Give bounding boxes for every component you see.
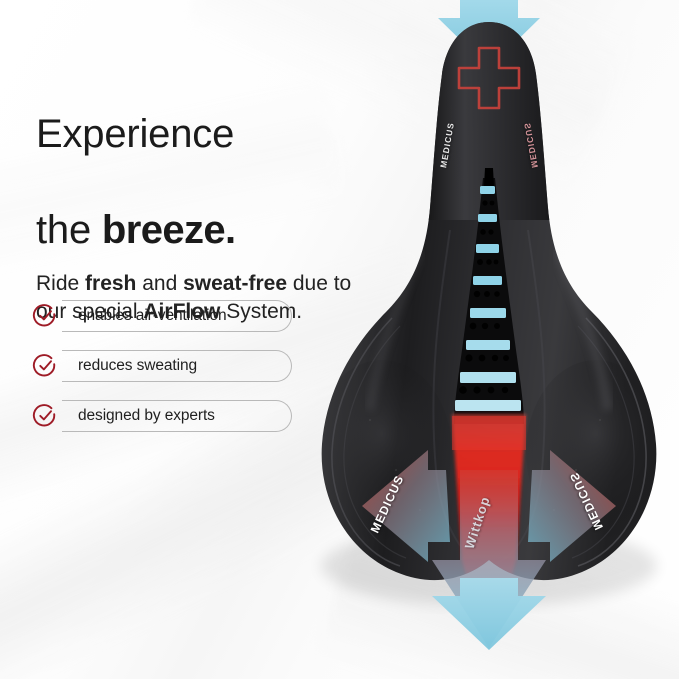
feature-item-reduces-sweating: reduces sweating <box>32 350 292 382</box>
feature-label: designed by experts <box>78 407 215 425</box>
headline-line-2-light: the <box>36 208 102 252</box>
feature-list: enables air-ventilation reduces sweating… <box>32 300 292 450</box>
feature-item-air-ventilation: enables air-ventilation <box>32 300 292 332</box>
subhead-part-2: and <box>136 272 183 295</box>
subhead-bold-sweat-free: sweat-free <box>183 272 287 295</box>
feature-item-designed-by-experts: designed by experts <box>32 400 292 432</box>
check-circle-icon <box>32 303 58 329</box>
feature-pill: enables air-ventilation <box>68 300 292 332</box>
subhead-bold-fresh: fresh <box>85 272 136 295</box>
feature-pill: reduces sweating <box>68 350 292 382</box>
check-circle-icon <box>32 353 58 379</box>
feature-pill: designed by experts <box>68 400 292 432</box>
product-marketing-banner: MEDICUS MEDICUS MEDICUS MEDICUS Wittkop … <box>0 0 679 679</box>
headline-line-1: Experience <box>36 112 234 156</box>
feature-label: reduces sweating <box>78 357 197 375</box>
headline-line-2-bold: breeze. <box>102 208 236 252</box>
feature-label: enables air-ventilation <box>78 307 227 325</box>
marketing-copy: Experience the breeze. Ride fresh and sw… <box>36 62 366 326</box>
check-circle-icon <box>32 403 58 429</box>
page-title: Experience the breeze. <box>36 62 366 254</box>
subhead-part-1: Ride <box>36 272 85 295</box>
